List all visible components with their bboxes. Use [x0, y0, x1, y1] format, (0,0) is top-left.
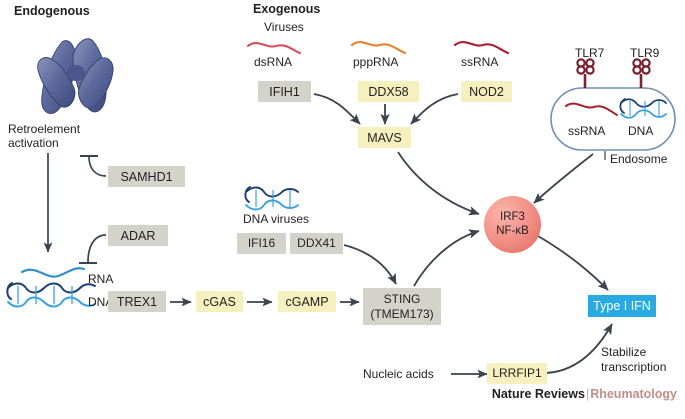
- node-ifi16[interactable]: IFI16: [237, 233, 286, 254]
- node-type1-ifn[interactable]: Type I IFN: [588, 295, 656, 317]
- footer-journal: Rheumatology: [590, 387, 677, 401]
- arrow-ddx41-to-sting: [344, 245, 396, 284]
- label-stabilize-transcription: Stabilize transcription: [601, 345, 666, 375]
- label-ssrna-endosome: ssRNA: [568, 124, 605, 138]
- node-adar[interactable]: ADAR: [108, 225, 168, 246]
- node-sting[interactable]: STING (TMEM173): [363, 288, 441, 325]
- irf3-label: IRF3: [500, 211, 525, 224]
- dna-helix-icon: [7, 283, 95, 307]
- arrow-mavs-to-irf3: [398, 152, 479, 214]
- dsrna-strand-icon: [248, 43, 300, 53]
- label-nucleic-acids: Nucleic acids: [363, 367, 434, 381]
- node-mavs[interactable]: MAVS: [358, 127, 411, 148]
- label-dna-viruses: DNA viruses: [243, 212, 309, 226]
- node-ddx58[interactable]: DDX58: [358, 81, 419, 102]
- arrow-irf3-to-type1ifn: [538, 236, 608, 290]
- footer-brand: Nature Reviews: [492, 387, 585, 401]
- dna-viruses-helix-icon: [245, 187, 298, 210]
- diagram-connectors-layer: [0, 0, 685, 419]
- pathway-diagram: Endogenous Exogenous Viruses Retroelemen…: [0, 0, 685, 419]
- ssrna-strand-icon: [455, 42, 508, 53]
- endosome-icon: [551, 59, 675, 160]
- node-cgamp[interactable]: cGAMP: [278, 291, 336, 312]
- node-trex1[interactable]: TREX1: [108, 291, 166, 312]
- node-ddx41[interactable]: DDX41: [290, 233, 343, 254]
- node-nod2[interactable]: NOD2: [461, 81, 512, 102]
- chromosome-icon: [38, 39, 113, 114]
- label-rna: RNA: [88, 272, 113, 286]
- label-viruses: Viruses: [264, 20, 304, 34]
- label-retroelement-activation: Retroelement activation: [8, 122, 80, 151]
- label-ssrna-virus: ssRNA: [461, 55, 498, 69]
- node-irf3-nfkb[interactable]: IRF3 NF-κB: [484, 196, 541, 253]
- node-cgas[interactable]: cGAS: [196, 291, 243, 312]
- label-dna-endosome: DNA: [628, 124, 653, 138]
- arrow-sting-to-irf3: [414, 231, 479, 286]
- arrow-ifih1-to-mavs: [314, 94, 360, 124]
- arrow-samhd1-to-retroelement: [89, 157, 106, 176]
- arrow-adar-to-rna: [88, 235, 106, 262]
- label-tlr7: TLR7: [575, 46, 604, 60]
- arrow-endosome-to-irf3: [534, 154, 593, 203]
- heading-exogenous: Exogenous: [253, 2, 320, 16]
- footer-branding: Nature Reviews|Rheumatology: [478, 373, 677, 415]
- rna-strand-icon: [22, 268, 84, 276]
- heading-endogenous: Endogenous: [14, 4, 90, 18]
- label-endosome: Endosome: [610, 152, 667, 166]
- label-ppprna: pppRNA: [353, 55, 398, 69]
- label-tlr9: TLR9: [630, 46, 659, 60]
- ppprna-strand-icon: [352, 42, 405, 53]
- label-dsrna: dsRNA: [254, 55, 292, 69]
- nfkb-label: NF-κB: [496, 225, 529, 238]
- node-ifih1[interactable]: IFIH1: [258, 81, 311, 102]
- node-samhd1[interactable]: SAMHD1: [108, 166, 185, 187]
